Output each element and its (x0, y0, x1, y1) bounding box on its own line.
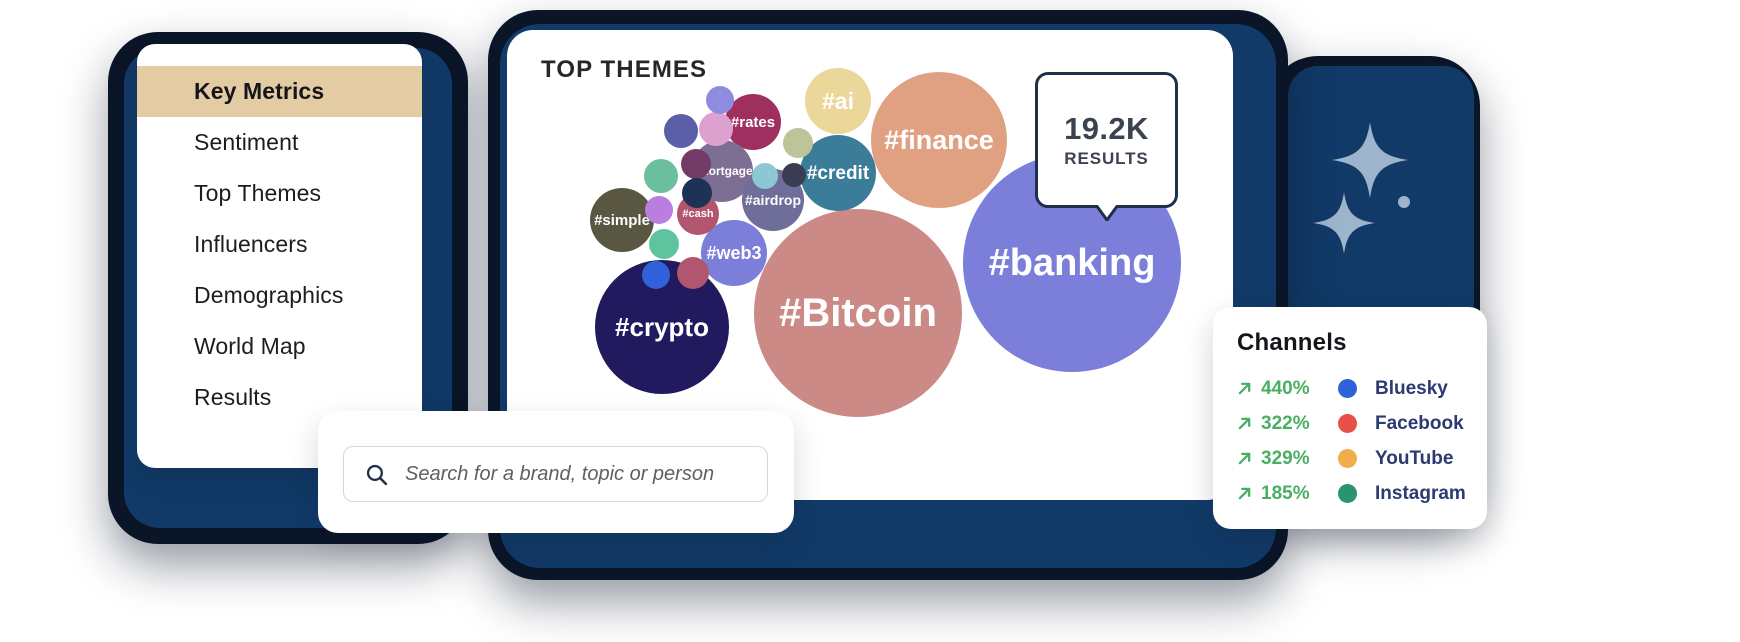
channel-percent: 329% (1261, 448, 1323, 470)
channels-title: Channels (1237, 329, 1487, 357)
sidebar-item-label: World Map (194, 333, 306, 360)
sidebar-item-demographics[interactable]: Demographics (137, 270, 422, 321)
trend-up-arrow-icon (1237, 381, 1252, 396)
sidebar-item-top-themes[interactable]: Top Themes (137, 168, 422, 219)
channel-row-youtube[interactable]: 329%YouTube (1237, 441, 1487, 476)
sidebar: Key MetricsSentimentTop ThemesInfluencer… (137, 44, 422, 468)
channel-color-dot (1338, 379, 1357, 398)
channel-name: Instagram (1375, 483, 1466, 505)
sidebar-item-label: Results (194, 384, 271, 411)
channel-name: Facebook (1375, 413, 1464, 435)
sidebar-item-key-metrics[interactable]: Key Metrics (137, 66, 422, 117)
search-input[interactable]: Search for a brand, topic or person (343, 446, 768, 502)
trend-up-arrow-icon (1237, 486, 1252, 501)
trend-up-arrow-icon (1237, 416, 1252, 431)
sidebar-item-influencers[interactable]: Influencers (137, 219, 422, 270)
channel-name: YouTube (1375, 448, 1453, 470)
channels-list: 440%Bluesky322%Facebook329%YouTube185%In… (1237, 371, 1487, 511)
callout-tail (1096, 205, 1118, 221)
trend-up-arrow-icon (1237, 451, 1252, 466)
channel-color-dot (1338, 449, 1357, 468)
sidebar-item-world-map[interactable]: World Map (137, 321, 422, 372)
sidebar-item-label: Key Metrics (194, 78, 324, 105)
results-value: 19.2K (1064, 111, 1149, 147)
sparkles-icon (1300, 120, 1470, 280)
results-label: RESULTS (1064, 149, 1148, 169)
channel-color-dot (1338, 484, 1357, 503)
channel-row-bluesky[interactable]: 440%Bluesky (1237, 371, 1487, 406)
search-icon (364, 462, 389, 487)
search-placeholder-text: Search for a brand, topic or person (405, 463, 714, 486)
channel-name: Bluesky (1375, 378, 1448, 400)
sidebar-nav-list: Key MetricsSentimentTop ThemesInfluencer… (137, 66, 422, 423)
sidebar-item-label: Sentiment (194, 129, 298, 156)
channel-percent: 185% (1261, 483, 1323, 505)
sidebar-item-label: Influencers (194, 231, 308, 258)
sidebar-item-label: Top Themes (194, 180, 321, 207)
channel-color-dot (1338, 414, 1357, 433)
channel-percent: 440% (1261, 378, 1323, 400)
channel-percent: 322% (1261, 413, 1323, 435)
app-screenshot: Key MetricsSentimentTop ThemesInfluencer… (0, 0, 1740, 642)
channel-row-facebook[interactable]: 322%Facebook (1237, 406, 1487, 441)
channels-card: Channels 440%Bluesky322%Facebook329%YouT… (1213, 307, 1487, 529)
sidebar-item-label: Demographics (194, 282, 344, 309)
sidebar-top-spacer (137, 44, 422, 66)
page-title: TOP THEMES (541, 56, 707, 84)
sidebar-item-sentiment[interactable]: Sentiment (137, 117, 422, 168)
channel-row-instagram[interactable]: 185%Instagram (1237, 476, 1487, 511)
results-callout: 19.2K RESULTS (1035, 72, 1178, 208)
